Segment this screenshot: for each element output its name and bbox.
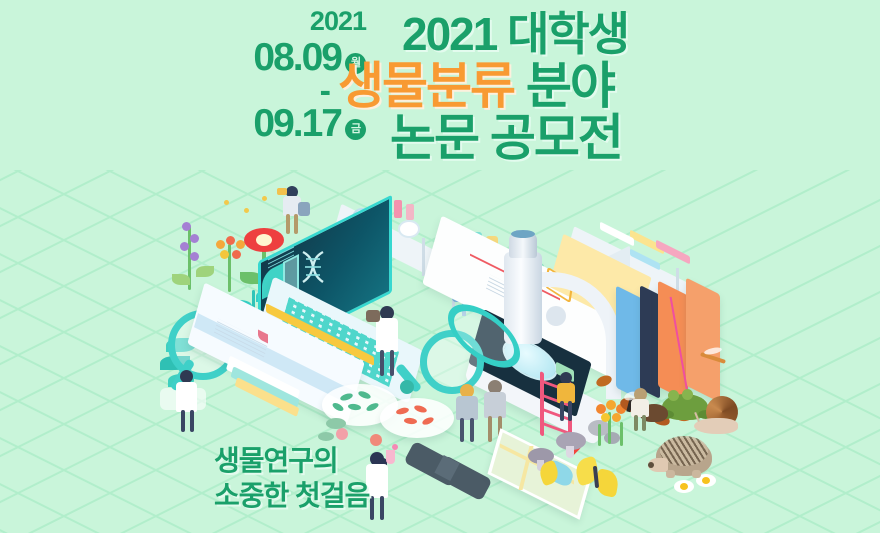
microscope-eyepiece-cap	[511, 230, 535, 238]
child-leg	[634, 415, 638, 431]
berry-bud	[601, 413, 610, 422]
book-spine	[686, 278, 720, 403]
flower-center	[702, 477, 710, 484]
poster-tagline: 생물연구의 소중한 첫걸음	[214, 443, 369, 513]
headline-highlight-term: 생물분류	[338, 58, 514, 114]
poster-headline: 2021 대학생 생물분류 분야 논문 공모전	[330, 6, 880, 166]
flask-icon	[398, 220, 420, 238]
dna-helix-icon	[300, 250, 326, 284]
researcher-leg	[370, 496, 374, 520]
researcher-leg	[380, 350, 384, 376]
headline-line-1: 2021 대학생	[330, 6, 880, 62]
berry-bud	[606, 400, 616, 410]
flower-center	[256, 234, 272, 246]
book-spine	[616, 286, 642, 401]
child-shirt	[631, 399, 649, 417]
berry-bud	[226, 236, 235, 245]
grass-blade	[598, 424, 601, 446]
grass-blade	[620, 422, 623, 446]
spore-dot	[262, 196, 267, 201]
researcher-leg	[181, 410, 185, 432]
headline-line-3: 논문 공모전	[330, 110, 880, 166]
poster-canvas: 2021 08.09 월 - 09.17 금 2021 대학생 생물분류 분야 …	[0, 0, 880, 533]
amoeba-shape	[318, 432, 334, 441]
flask-in-hand	[386, 450, 395, 464]
hedgehog-leg	[666, 470, 675, 478]
researcher-coat	[376, 318, 398, 352]
hedgehog-leg	[692, 470, 701, 478]
petri-dish	[380, 398, 454, 438]
berry-bud	[220, 250, 229, 259]
lavender-bud	[180, 242, 189, 251]
plant-stem	[228, 244, 231, 292]
flower-center	[680, 483, 688, 490]
spore-dot	[244, 208, 249, 213]
flask-icon	[394, 200, 402, 218]
worker-leg	[568, 401, 572, 421]
virus-shape	[336, 428, 348, 440]
event-end-date: 09.17	[253, 102, 341, 146]
researcher-shirt	[484, 392, 506, 418]
leaf-shape	[196, 266, 214, 277]
grid-line	[0, 372, 880, 533]
tagline-line-2: 소중한 첫걸음	[214, 478, 369, 513]
ladder-rung	[540, 407, 570, 421]
grid-line	[0, 170, 880, 172]
researcher-shirt	[456, 396, 478, 420]
microscope-handheld	[366, 310, 380, 322]
worker-shirt	[557, 383, 575, 403]
researcher-leg	[390, 350, 394, 376]
grid-line	[0, 510, 880, 533]
lab-bench-leg	[422, 238, 425, 276]
researcher-coat	[176, 382, 197, 412]
hiker-backpack	[298, 202, 310, 216]
book-spine	[658, 281, 688, 402]
hiker-leg	[294, 214, 298, 234]
berry-bud	[232, 250, 241, 259]
lavender-bud	[190, 252, 199, 261]
researcher-leg	[460, 418, 464, 442]
researcher-leg	[380, 496, 384, 520]
dna-svg	[300, 250, 326, 284]
date-range-separator: -	[216, 81, 330, 101]
child-leg	[642, 415, 646, 431]
grid-line	[0, 492, 880, 533]
frog-eye	[682, 389, 693, 400]
researcher-leg	[488, 416, 492, 442]
lavender-bud	[182, 222, 191, 231]
headline-line-2-rest: 분야	[526, 58, 614, 114]
researcher-leg	[470, 418, 474, 442]
rock	[604, 432, 620, 444]
headline-line-2: 생물분류 분야	[330, 58, 880, 114]
grid-line	[0, 262, 880, 533]
amoeba-shape	[326, 418, 346, 429]
hiker-binoculars-icon	[277, 188, 287, 195]
virus-shape	[400, 380, 414, 394]
flask-icon	[406, 204, 414, 220]
spore-dot	[224, 200, 229, 205]
snail-body	[694, 418, 738, 434]
worker-leg	[560, 401, 564, 421]
bubble	[392, 444, 398, 450]
book-spine	[640, 285, 660, 399]
hiker-leg	[286, 214, 290, 234]
leaf-shape	[172, 274, 190, 285]
researcher-leg	[190, 410, 194, 432]
mushroom-stem	[566, 446, 574, 458]
hedgehog-nose	[648, 462, 654, 468]
grid-line	[0, 170, 880, 218]
frog-eye	[668, 390, 679, 401]
berry-bud	[216, 240, 225, 249]
lavender-bud	[190, 234, 199, 243]
virus-shape	[370, 434, 382, 446]
berry-bud	[612, 413, 621, 422]
tagline-line-1: 생물연구의	[214, 443, 369, 478]
microscope-focus-knob	[546, 306, 566, 326]
